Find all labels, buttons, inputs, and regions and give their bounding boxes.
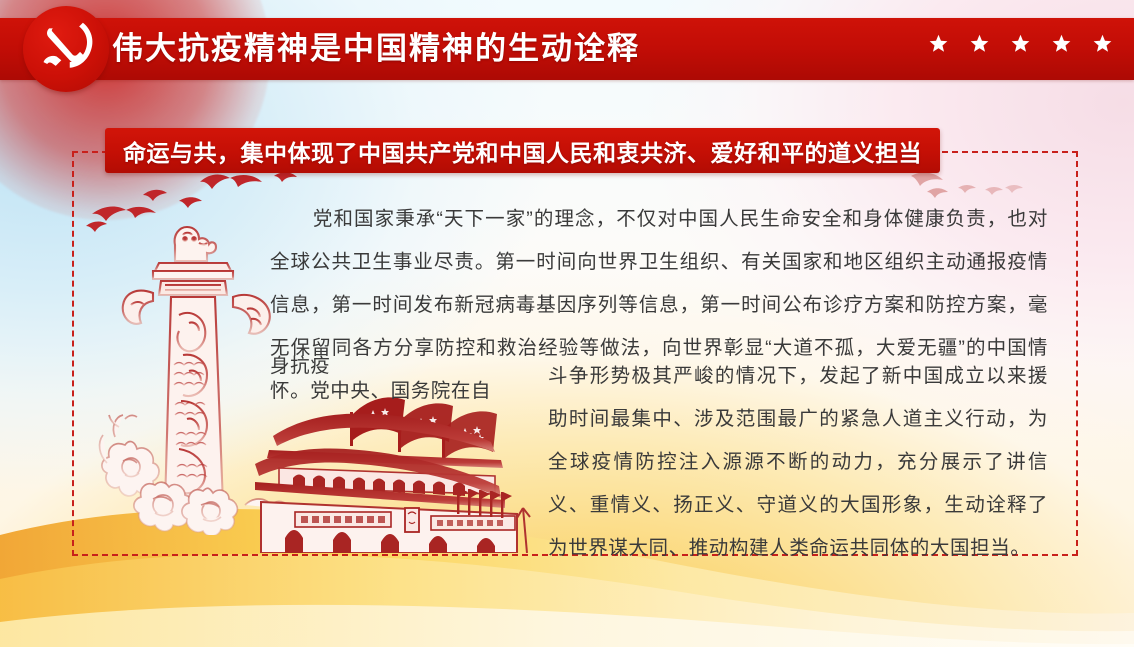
body-paragraph-bottom: 斗争形势极其严峻的情况下，发起了新中国成立以来援助时间最集中、涉及范围最广的紧急… bbox=[548, 355, 1048, 570]
star-icon bbox=[1093, 34, 1112, 53]
star-icon bbox=[1052, 34, 1071, 53]
section-title-text: 命运与共，集中体现了中国共产党和中国人民和衷共济、爱好和平的道义担当 bbox=[123, 134, 922, 168]
section-title-banner: 命运与共，集中体现了中国共产党和中国人民和衷共济、爱好和平的道义担当 bbox=[105, 128, 940, 173]
star-icon bbox=[970, 34, 989, 53]
slide-canvas: 伟大抗疫精神是中国精神的生动诠释 bbox=[0, 0, 1134, 647]
party-emblem bbox=[23, 6, 109, 92]
star-icon bbox=[929, 34, 948, 53]
body-paragraph-tail: 身抗疫 bbox=[270, 345, 330, 388]
page-title: 伟大抗疫精神是中国精神的生动诠释 bbox=[112, 23, 640, 75]
header-stars bbox=[929, 34, 1112, 53]
star-icon bbox=[1011, 34, 1030, 53]
party-hammer-sickle-icon bbox=[36, 19, 96, 79]
